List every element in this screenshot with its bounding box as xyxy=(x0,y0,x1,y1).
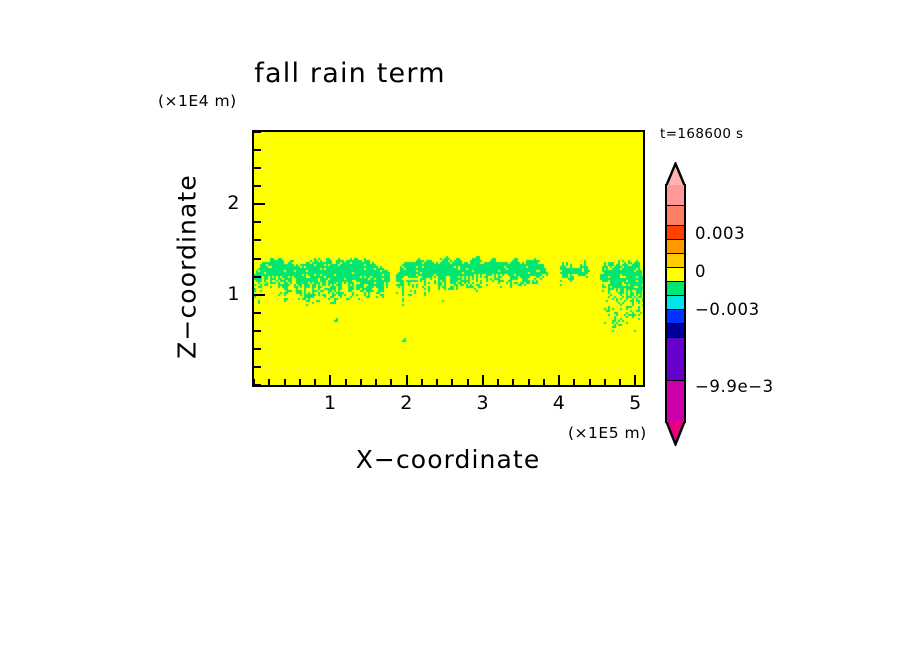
time-annotation: t=168600 s xyxy=(660,126,743,142)
y-minor-tick xyxy=(254,167,261,169)
colorbar-tick-label: −0.003 xyxy=(695,300,760,319)
colorbar-bands xyxy=(665,184,686,423)
x-axis-unit-caption: (×1E5 m) xyxy=(568,424,647,442)
x-minor-tick xyxy=(299,379,301,385)
colorbar-band-green xyxy=(667,282,684,296)
colorbar-band-light-pink xyxy=(667,184,684,206)
y-major-tick xyxy=(254,203,265,205)
x-minor-tick xyxy=(390,379,392,385)
colorbar-band-purple xyxy=(667,338,684,381)
colorbar-top-arrow xyxy=(665,162,686,185)
y-minor-tick xyxy=(254,276,261,278)
x-minor-tick xyxy=(573,379,575,385)
colorbar-bottom-arrow xyxy=(665,422,686,446)
x-minor-tick xyxy=(543,379,545,385)
x-minor-tick xyxy=(421,379,423,385)
y-minor-tick xyxy=(254,131,261,133)
x-minor-tick xyxy=(345,379,347,385)
y-minor-tick xyxy=(254,330,261,332)
colorbar-tick-label: 0.003 xyxy=(695,224,745,243)
x-minor-tick xyxy=(375,379,377,385)
colorbar-band-navy xyxy=(667,324,684,338)
x-tick-label: 4 xyxy=(539,392,579,414)
colorbar-band-orange xyxy=(667,240,684,254)
y-minor-tick xyxy=(254,149,261,151)
y-minor-tick xyxy=(254,384,261,386)
y-tick-label: 2 xyxy=(210,192,240,214)
x-major-tick xyxy=(406,375,408,385)
plot-area xyxy=(252,130,645,387)
field-heatmap-canvas xyxy=(254,132,643,385)
x-minor-tick xyxy=(604,379,606,385)
plot-title: fall rain term xyxy=(0,58,700,89)
y-minor-tick xyxy=(254,185,261,187)
colorbar: 0.0030−0.003−9.9e−3 xyxy=(658,162,778,407)
x-minor-tick xyxy=(360,379,362,385)
y-axis-title: Z−coordinate xyxy=(173,67,202,467)
x-major-tick xyxy=(482,375,484,385)
colorbar-tick-label: −9.9e−3 xyxy=(695,377,774,396)
x-major-tick xyxy=(558,375,560,385)
x-major-tick xyxy=(634,375,636,385)
x-minor-tick xyxy=(268,379,270,385)
x-minor-tick xyxy=(497,379,499,385)
x-minor-tick xyxy=(467,379,469,385)
colorbar-band-salmon xyxy=(667,206,684,226)
x-tick-label: 1 xyxy=(310,392,350,414)
x-minor-tick xyxy=(451,379,453,385)
x-minor-tick xyxy=(589,379,591,385)
y-minor-tick xyxy=(254,258,261,260)
colorbar-band-blue xyxy=(667,310,684,324)
colorbar-band-red-orange xyxy=(667,226,684,240)
x-major-tick xyxy=(329,375,331,385)
colorbar-band-magenta xyxy=(667,381,684,423)
y-minor-tick xyxy=(254,312,261,314)
x-minor-tick xyxy=(619,379,621,385)
y-major-tick xyxy=(254,294,265,296)
x-minor-tick xyxy=(314,379,316,385)
colorbar-tick-label: 0 xyxy=(695,262,706,281)
x-tick-label: 5 xyxy=(615,392,655,414)
figure-root: fall rain term (×1E4 m) (×1E5 m) t=16860… xyxy=(0,0,904,654)
x-minor-tick xyxy=(284,379,286,385)
y-minor-tick xyxy=(254,239,261,241)
y-minor-tick xyxy=(254,221,261,223)
x-minor-tick xyxy=(512,379,514,385)
x-minor-tick xyxy=(528,379,530,385)
x-axis-title: X−coordinate xyxy=(248,445,648,474)
y-minor-tick xyxy=(254,348,261,350)
x-tick-label: 3 xyxy=(463,392,503,414)
x-tick-label: 2 xyxy=(387,392,427,414)
colorbar-band-cyan xyxy=(667,296,684,310)
colorbar-band-yellow xyxy=(667,268,684,282)
y-tick-label: 1 xyxy=(210,283,240,305)
x-minor-tick xyxy=(436,379,438,385)
y-minor-tick xyxy=(254,366,261,368)
colorbar-band-amber xyxy=(667,254,684,268)
